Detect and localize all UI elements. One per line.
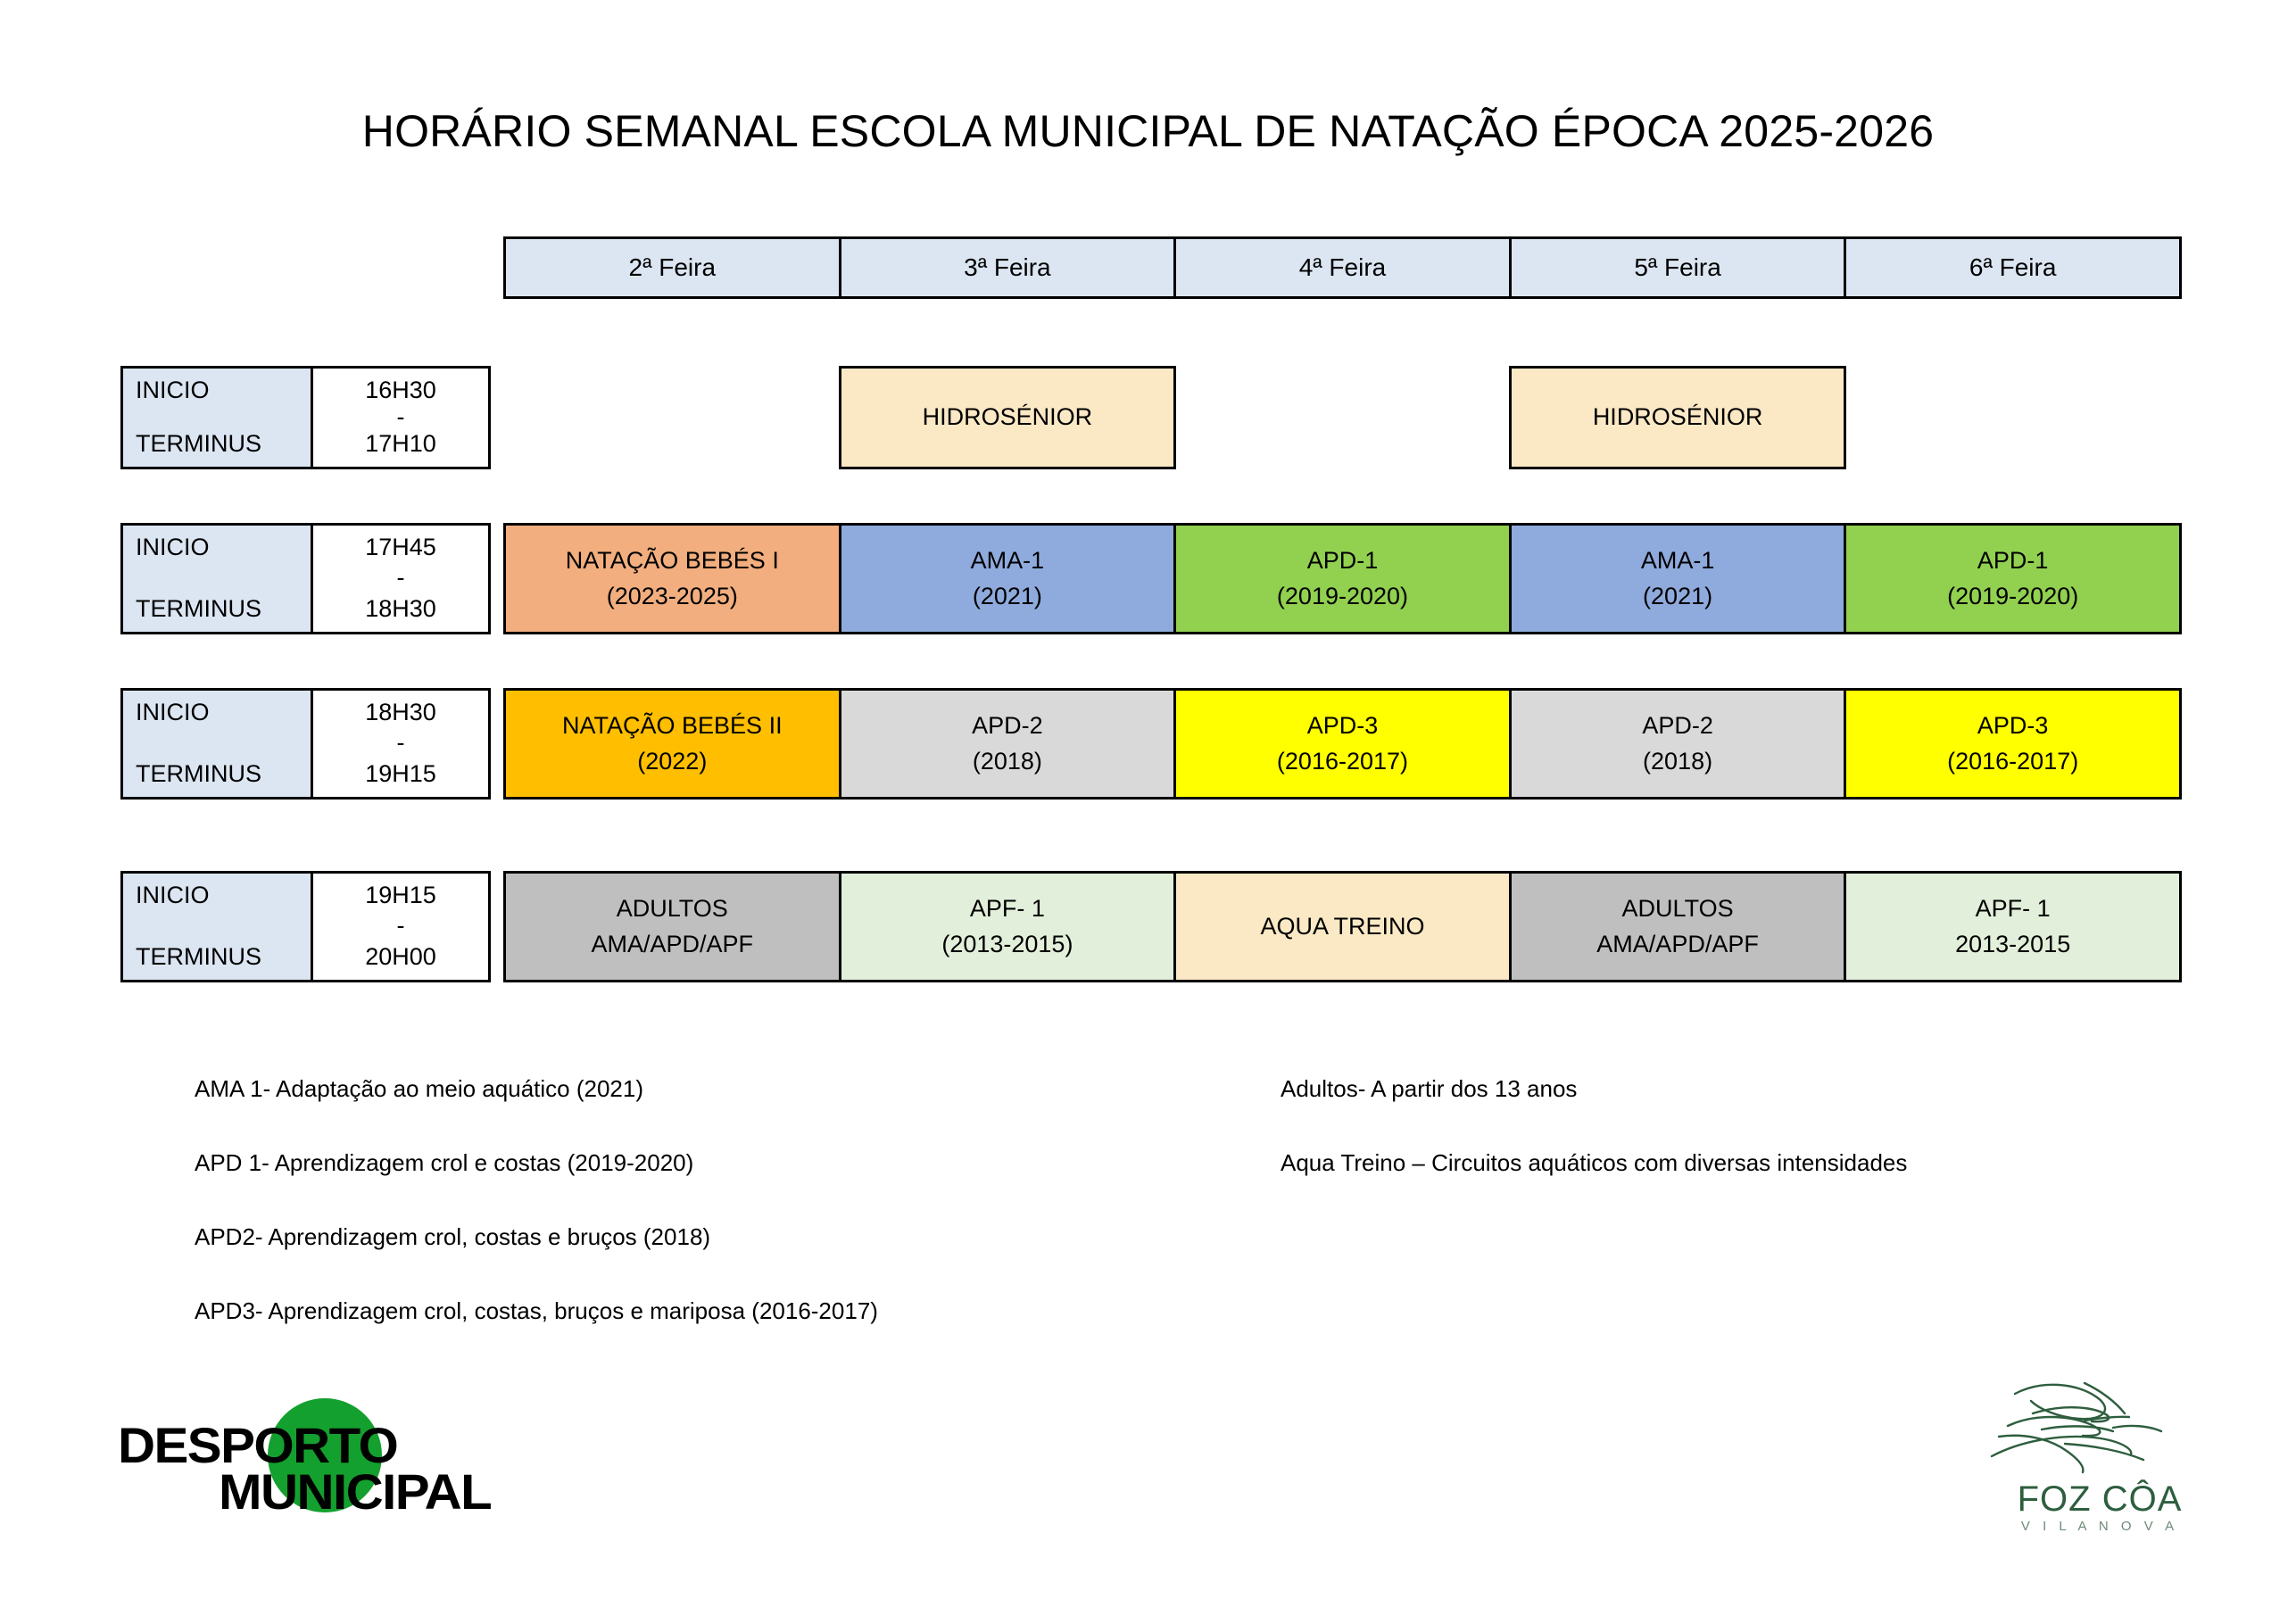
day-header-4a: 4ª Feira [1173, 236, 1512, 299]
class-cell-r3-5a[interactable]: APD-2 (2018) [1509, 688, 1847, 800]
inicio-label: INICIO [136, 700, 311, 725]
class-cell-r1-6a [1844, 366, 2182, 469]
spacer [491, 523, 503, 634]
class-years: 2013-2015 [1955, 927, 2070, 962]
class-cell-r2-6a[interactable]: APD-1 (2019-2020) [1844, 523, 2182, 634]
coa-engraving-icon [1979, 1374, 2220, 1486]
time-labels-3: INICIO TERMINUS [123, 691, 313, 797]
class-years: (2016-2017) [1277, 744, 1408, 779]
end-time: 20H00 [365, 944, 436, 969]
class-cell-r3-3a[interactable]: APD-2 (2018) [839, 688, 1177, 800]
class-years: (2013-2015) [941, 927, 1073, 962]
spacer [491, 366, 503, 469]
legend-item-aqua-treino: Aqua Treino – Circuitos aquáticos com di… [1281, 1149, 1907, 1177]
class-name: NATAÇÃO BEBÉS II [562, 708, 783, 743]
time-labels-1: INICIO TERMINUS [123, 369, 313, 467]
class-cell-r1-5a[interactable]: HIDROSÉNIOR [1509, 366, 1847, 469]
class-cell-r4-3a[interactable]: APF- 1 (2013-2015) [839, 871, 1177, 982]
time-labels-4: INICIO TERMINUS [123, 874, 313, 980]
spacer [491, 236, 503, 299]
class-name: APD-1 [1977, 543, 2049, 578]
day-header-5a: 5ª Feira [1509, 236, 1847, 299]
schedule-row-3-cells: NATAÇÃO BEBÉS II (2022) APD-2 (2018) APD… [503, 688, 2182, 800]
class-cell-r1-3a[interactable]: HIDROSÉNIOR [839, 366, 1177, 469]
time-block-2: INICIO TERMINUS 17H45 - 18H30 [120, 523, 491, 634]
class-name: APF- 1 [970, 891, 1045, 926]
spacer [491, 688, 503, 800]
class-name: NATAÇÃO BEBÉS I [566, 543, 779, 578]
class-name: APD-2 [972, 708, 1043, 743]
foz-coa-logo: FOZ CÔA V I L A N O V A [1979, 1374, 2220, 1535]
class-years: (2022) [637, 744, 707, 779]
class-cell-r3-6a[interactable]: APD-3 (2016-2017) [1844, 688, 2182, 800]
page-title: HORÁRIO SEMANAL ESCOLA MUNICIPAL DE NATA… [0, 105, 2296, 157]
inicio-label: INICIO [136, 882, 311, 907]
class-cell-r2-3a[interactable]: AMA-1 (2021) [839, 523, 1177, 634]
class-cell-r4-6a[interactable]: APF- 1 2013-2015 [1844, 871, 2182, 982]
class-years: (2019-2020) [1947, 579, 2078, 614]
spacer [491, 871, 503, 982]
class-cell-r3-2a[interactable]: NATAÇÃO BEBÉS II (2022) [503, 688, 841, 800]
time-values-4: 19H15 - 20H00 [313, 874, 488, 980]
time-values-3: 18H30 - 19H15 [313, 691, 488, 797]
class-years: (2023-2025) [607, 579, 738, 614]
logo-line-municipal: MUNICIPAL [219, 1462, 491, 1520]
class-name: APD-3 [1307, 708, 1379, 743]
weekly-schedule-table: 2ª Feira 3ª Feira 4ª Feira 5ª Feira 6ª F… [120, 236, 2182, 982]
time-dash: - [397, 731, 405, 755]
time-block-4: INICIO TERMINUS 19H15 - 20H00 [120, 871, 491, 982]
class-years: (2019-2020) [1277, 579, 1408, 614]
class-name: APD-1 [1307, 543, 1379, 578]
time-dash: - [397, 405, 405, 429]
class-cell-r2-5a[interactable]: AMA-1 (2021) [1509, 523, 1847, 634]
class-cell-r2-4a[interactable]: APD-1 (2019-2020) [1173, 523, 1512, 634]
class-cell-r1-4a [1173, 366, 1512, 469]
day-header-cells: 2ª Feira 3ª Feira 4ª Feira 5ª Feira 6ª F… [503, 236, 2182, 299]
time-block-3: INICIO TERMINUS 18H30 - 19H15 [120, 688, 491, 800]
spacer [120, 634, 2182, 688]
start-time: 16H30 [365, 377, 436, 402]
time-dash: - [397, 914, 405, 938]
class-years: (2021) [973, 579, 1042, 614]
desporto-municipal-logo: DESPORTO MUNICIPAL [116, 1388, 598, 1530]
inicio-label: INICIO [136, 534, 311, 559]
schedule-row-1-cells: HIDROSÉNIOR HIDROSÉNIOR [503, 366, 2182, 469]
foz-coa-subtitle: V I L A N O V A [1979, 1519, 2220, 1534]
class-name: AMA-1 [971, 543, 1045, 578]
day-header-2a: 2ª Feira [503, 236, 841, 299]
time-values-2: 17H45 - 18H30 [313, 526, 488, 632]
class-cell-r4-4a[interactable]: AQUA TREINO [1173, 871, 1512, 982]
legend-item-adultos: Adultos- A partir dos 13 anos [1281, 1075, 1907, 1103]
class-name: HIDROSÉNIOR [1593, 400, 1763, 435]
legend-right-column: Adultos- A partir dos 13 anos Aqua Trein… [1281, 1075, 1907, 1223]
day-header-6a: 6ª Feira [1844, 236, 2182, 299]
time-values-1: 16H30 - 17H10 [313, 369, 488, 467]
class-years: (2018) [1643, 744, 1712, 779]
schedule-row-2: INICIO TERMINUS 17H45 - 18H30 NATAÇÃO BE… [120, 523, 2182, 634]
class-cell-r3-4a[interactable]: APD-3 (2016-2017) [1173, 688, 1512, 800]
legend-item-apd3: APD3- Aprendizagem crol, costas, bruços … [195, 1297, 878, 1325]
legend-item-apd1: APD 1- Aprendizagem crol e costas (2019-… [195, 1149, 878, 1177]
schedule-row-4-cells: ADULTOS AMA/APD/APF APF- 1 (2013-2015) A… [503, 871, 2182, 982]
class-name: APD-3 [1977, 708, 2049, 743]
class-name: HIDROSÉNIOR [923, 400, 1093, 435]
terminus-label: TERMINUS [136, 944, 311, 969]
class-cell-r2-2a[interactable]: NATAÇÃO BEBÉS I (2023-2025) [503, 523, 841, 634]
class-name: ADULTOS [617, 891, 728, 926]
class-years: (2016-2017) [1947, 744, 2078, 779]
time-dash: - [397, 566, 405, 590]
class-name: AQUA TREINO [1260, 909, 1424, 944]
terminus-label: TERMINUS [136, 431, 311, 456]
day-header-row: 2ª Feira 3ª Feira 4ª Feira 5ª Feira 6ª F… [120, 236, 2182, 299]
class-name: AMA-1 [1641, 543, 1715, 578]
foz-coa-wordmark: FOZ CÔA [1979, 1479, 2220, 1520]
spacer [120, 800, 2182, 871]
schedule-row-3: INICIO TERMINUS 18H30 - 19H15 NATAÇÃO BE… [120, 688, 2182, 800]
start-time: 19H15 [365, 882, 436, 907]
end-time: 19H15 [365, 761, 436, 786]
spacer [120, 299, 2182, 366]
class-years: (2018) [973, 744, 1042, 779]
start-time: 18H30 [365, 700, 436, 725]
end-time: 18H30 [365, 596, 436, 621]
class-cell-r4-2a[interactable]: ADULTOS AMA/APD/APF [503, 871, 841, 982]
class-cell-r4-5a[interactable]: ADULTOS AMA/APD/APF [1509, 871, 1847, 982]
day-header-3a: 3ª Feira [839, 236, 1177, 299]
legend-item-apd2: APD2- Aprendizagem crol, costas e bruços… [195, 1223, 878, 1251]
class-name: APD-2 [1642, 708, 1713, 743]
class-name: APF- 1 [1976, 891, 2051, 926]
spacer [120, 469, 2182, 523]
schedule-row-1: INICIO TERMINUS 16H30 - 17H10 HIDROSÉNIO… [120, 366, 2182, 469]
time-block-1: INICIO TERMINUS 16H30 - 17H10 [120, 366, 491, 469]
inicio-label: INICIO [136, 377, 311, 402]
class-name: ADULTOS [1622, 891, 1734, 926]
class-years: AMA/APD/APF [592, 927, 754, 962]
class-years: (2021) [1643, 579, 1712, 614]
class-years: AMA/APD/APF [1596, 927, 1759, 962]
schedule-row-2-cells: NATAÇÃO BEBÉS I (2023-2025) AMA-1 (2021)… [503, 523, 2182, 634]
start-time: 17H45 [365, 534, 436, 559]
terminus-label: TERMINUS [136, 596, 311, 621]
end-time: 17H10 [365, 431, 436, 456]
terminus-label: TERMINUS [136, 761, 311, 786]
schedule-row-4: INICIO TERMINUS 19H15 - 20H00 ADULTOS AM… [120, 871, 2182, 982]
time-labels-2: INICIO TERMINUS [123, 526, 313, 632]
legend-item-ama1: AMA 1- Adaptação ao meio aquático (2021) [195, 1075, 878, 1103]
legend-left-column: AMA 1- Adaptação ao meio aquático (2021)… [195, 1075, 878, 1371]
class-cell-r1-2a [503, 366, 841, 469]
